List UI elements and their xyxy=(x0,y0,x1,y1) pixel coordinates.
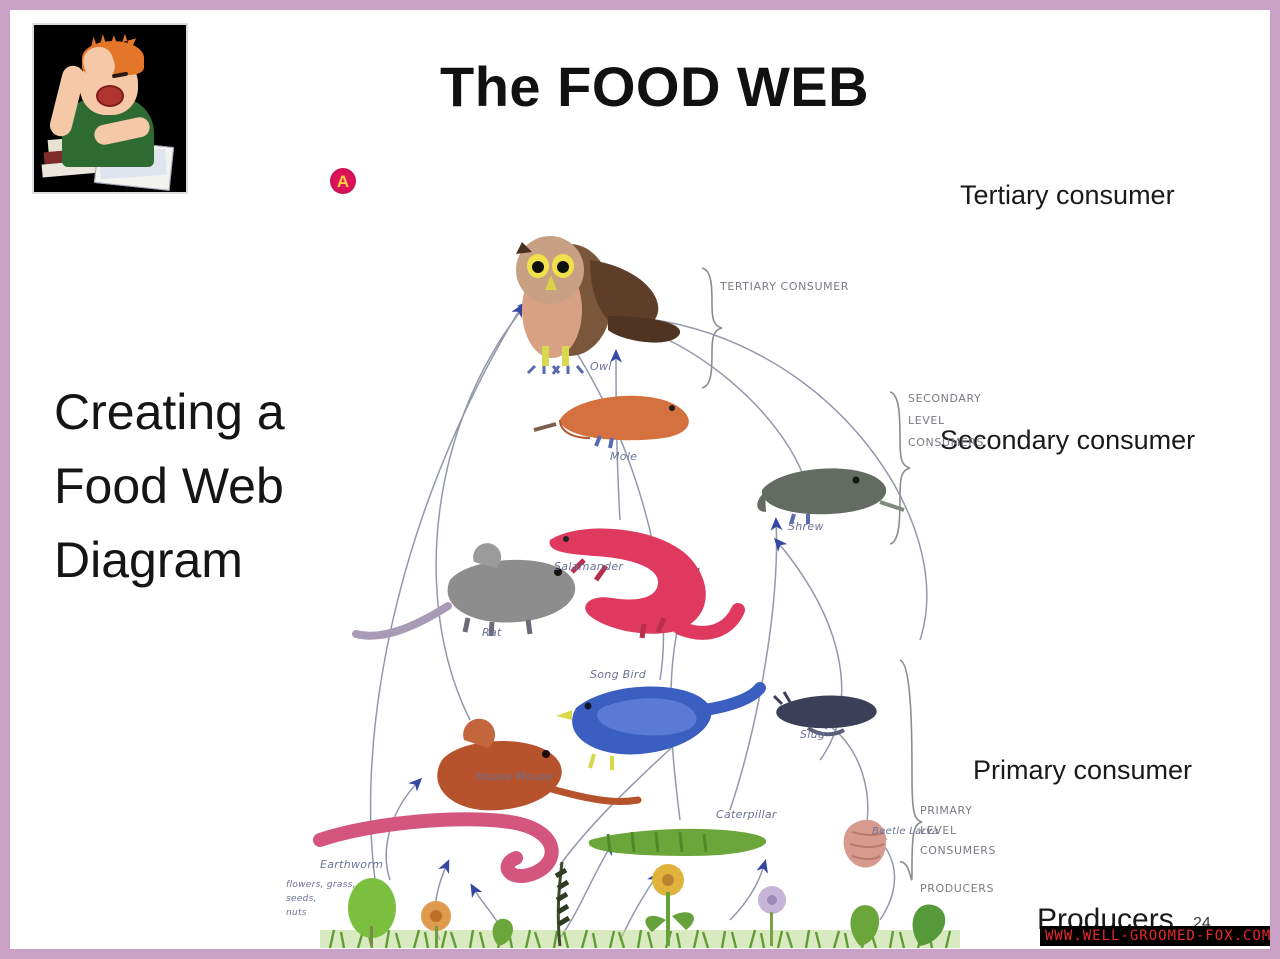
handwritten-label-shrew: Shrew xyxy=(788,520,824,533)
page-title: The FOOD WEB xyxy=(440,54,869,119)
handwritten-label-house-mouse: House Mouse xyxy=(476,770,553,783)
level-bracket-group xyxy=(702,268,922,880)
handwritten-label-owl: Owl xyxy=(590,360,612,373)
bracket-tertiary xyxy=(702,268,722,388)
organism-owl xyxy=(516,236,680,374)
arrow-plants-to-earthworm xyxy=(472,886,500,926)
frustrated-student-clipart xyxy=(32,23,188,194)
handwritten-bracket-producers: PRODUCERS xyxy=(920,882,994,895)
handwritten-bracket-secondary-line2: LEVEL xyxy=(908,414,945,427)
food-web-drawing: Owl Mole Shrew Salamander Rat Song Bird … xyxy=(260,120,1020,950)
clipart-mouth xyxy=(96,85,124,107)
handwritten-bracket-primary-line2: LEVEL xyxy=(920,824,957,837)
handwritten-label-song-bird: Song Bird xyxy=(590,668,646,681)
handwritten-label-mole: Mole xyxy=(610,450,637,463)
organism-rat xyxy=(356,543,575,636)
handwritten-bracket-tertiary: TERTIARY CONSUMER xyxy=(720,280,849,293)
handwritten-producers-note-line1: flowers, grass, xyxy=(286,880,356,890)
handwritten-producers-note-line2: seeds, xyxy=(286,894,317,904)
slide-subtitle: Creating a Food Web Diagram xyxy=(54,375,285,597)
organism-slug xyxy=(774,692,877,734)
arrow-rat-to-owl xyxy=(436,302,528,720)
arrow-plants-to-songbird xyxy=(560,844,612,938)
organism-caterpillar xyxy=(589,829,766,856)
slide-canvas: The FOOD WEB Creating a Food Web Diagram… xyxy=(0,0,1280,959)
producers-plant-row xyxy=(320,862,960,948)
handwritten-bracket-secondary-line1: SECONDARY xyxy=(908,392,981,405)
handwritten-label-rat: Rat xyxy=(482,626,502,639)
organism-shrew xyxy=(757,468,904,524)
arrow-caterpillar-to-shrew xyxy=(730,520,777,810)
handwritten-label-salamander: Salamander xyxy=(554,560,623,573)
handwritten-producers-note-line3: nuts xyxy=(286,908,307,918)
handwritten-label-earthworm: Earthworm xyxy=(320,858,383,871)
handwritten-bracket-primary-line3: CONSUMERS xyxy=(920,844,996,857)
bracket-primary xyxy=(900,660,922,880)
handwritten-bracket-secondary-line3: CONSUMERS xyxy=(908,436,984,449)
organism-song-bird xyxy=(556,686,760,770)
handwritten-label-caterpillar: Caterpillar xyxy=(716,808,777,821)
bracket-secondary xyxy=(890,392,910,544)
handwritten-bracket-primary-line1: PRIMARY xyxy=(920,804,972,817)
handwritten-label-slug: Slug xyxy=(800,728,825,741)
organism-mole xyxy=(534,396,689,448)
arrow-plants-to-beetlelarva xyxy=(730,862,765,920)
organism-salamander xyxy=(550,528,738,638)
watermark-banner: WWW.WELL-GROOMED-FOX.COM xyxy=(1040,926,1276,946)
